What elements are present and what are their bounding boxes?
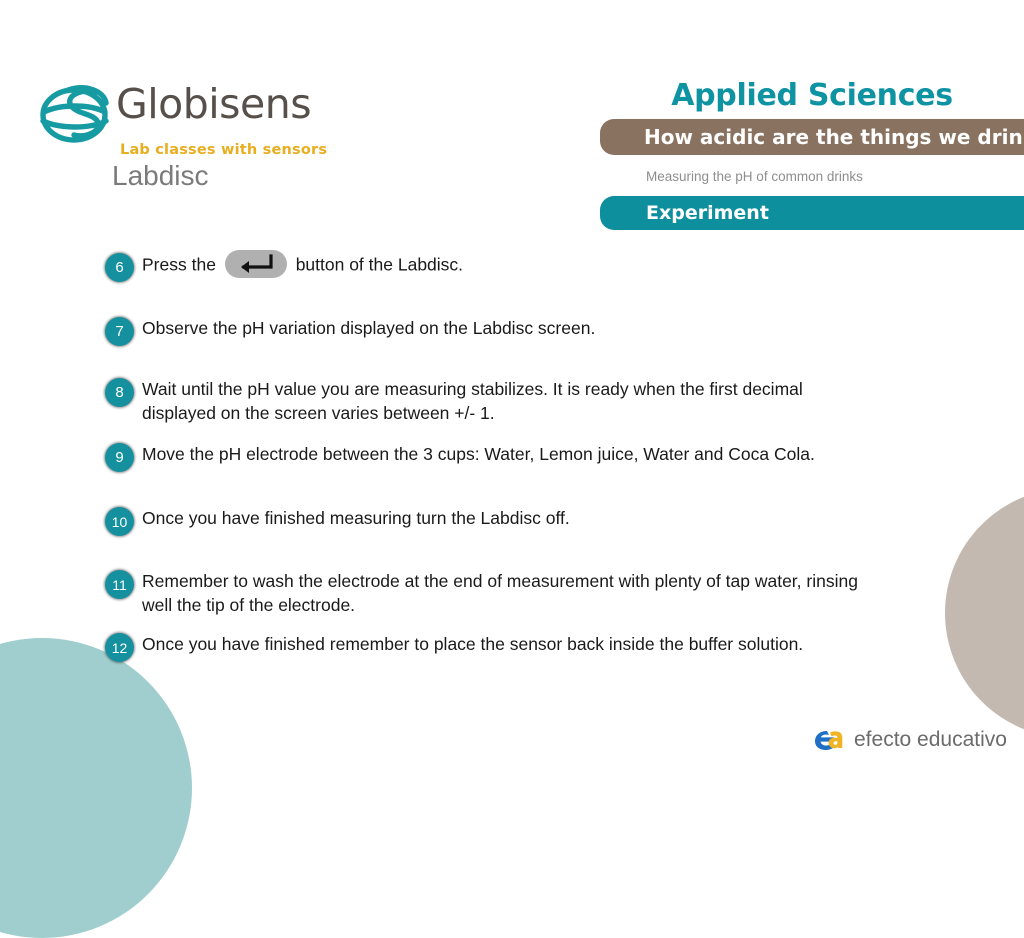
ea-logo-icon	[812, 724, 844, 756]
lesson-subtitle: Measuring the pH of common drinks	[600, 169, 1024, 184]
step-item: 7Observe the pH variation displayed on t…	[105, 316, 905, 346]
step-item: 10Once you have finished measuring turn …	[105, 506, 905, 536]
step-number-badge: 8	[105, 378, 134, 407]
decorative-circle-bottom-left	[0, 638, 192, 938]
lesson-header: Applied Sciences How acidic are the thin…	[600, 78, 1024, 230]
step-number-badge: 6	[105, 253, 134, 282]
step-number-badge: 12	[105, 633, 134, 662]
globe-swirl-icon	[34, 78, 120, 146]
brand-wordmark: Globisens	[116, 80, 311, 128]
step-text: Once you have finished measuring turn th…	[142, 506, 570, 530]
step-text: Wait until the pH value you are measurin…	[142, 377, 865, 425]
decorative-circle-bottom-right	[945, 488, 1024, 738]
step-text: Observe the pH variation displayed on th…	[142, 316, 595, 340]
step-item: 6Press the button of the Labdisc.	[105, 252, 905, 282]
step-number-badge: 11	[105, 570, 134, 599]
globisens-brand-logo: Globisens Lab classes with sensors Labdi…	[34, 78, 334, 198]
step-number-badge: 9	[105, 443, 134, 472]
step-item: 11Remember to wash the electrode at the …	[105, 569, 865, 617]
step-text: Move the pH electrode between the 3 cups…	[142, 442, 815, 466]
brand-tagline: Lab classes with sensors	[120, 142, 327, 158]
brand-logo-row: Globisens	[34, 78, 334, 140]
step-item: 12Once you have finished remember to pla…	[105, 632, 905, 662]
step-number-badge: 7	[105, 317, 134, 346]
lesson-title-bar: How acidic are the things we drink?	[600, 119, 1024, 155]
step-item: 9Move the pH electrode between the 3 cup…	[105, 442, 905, 472]
brand-product-name: Labdisc	[112, 160, 209, 192]
course-title: Applied Sciences	[600, 78, 1024, 113]
partner-name: efecto educativo	[854, 728, 1007, 752]
step-text: Remember to wash the electrode at the en…	[142, 569, 865, 617]
section-label-bar: Experiment	[600, 196, 1024, 230]
step-text-after-icon: button of the Labdisc.	[296, 255, 463, 275]
step-text-before-icon: Press the	[142, 255, 216, 275]
enter-key-icon	[225, 250, 287, 278]
step-text: Press the button of the Labdisc.	[142, 252, 463, 280]
step-number-badge: 10	[105, 507, 134, 536]
partner-logo: efecto educativo	[812, 724, 1007, 756]
step-item: 8Wait until the pH value you are measuri…	[105, 377, 865, 425]
step-text: Once you have finished remember to place…	[142, 632, 803, 656]
